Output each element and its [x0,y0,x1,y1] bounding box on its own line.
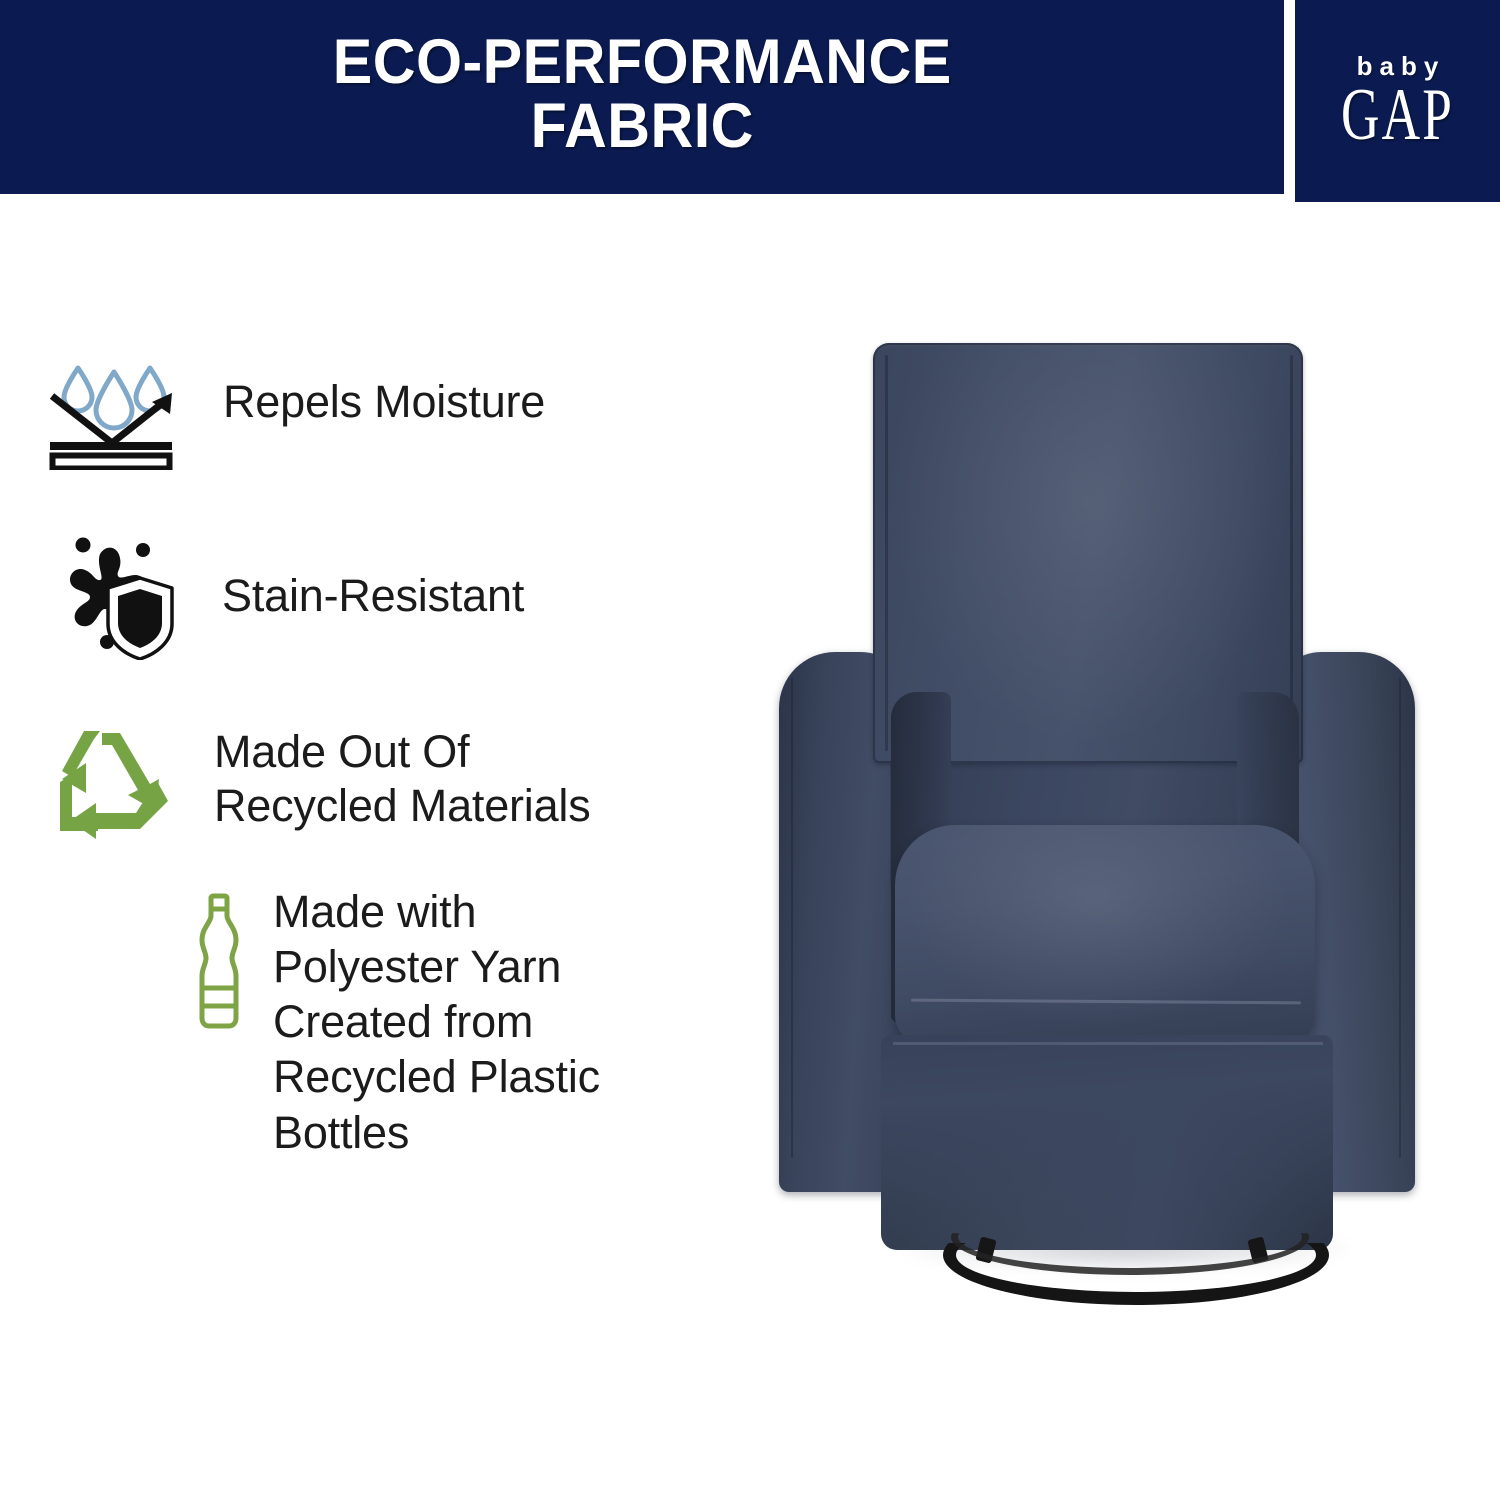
feature-item-repels-moisture: Repels Moisture [48,352,545,475]
feature-label: Stain-Resistant [222,569,524,623]
chair-seat-front-seam [893,1042,1323,1045]
chair-seat-front-panel [881,1035,1333,1250]
feature-label: Made Out Of Recycled Materials [214,725,591,834]
eco-performance-fabric-infographic: ECO-PERFORMANCE FABRIC baby GAP [0,0,1500,1500]
chair-back-seam-left [885,355,888,751]
page-title: ECO-PERFORMANCE FABRIC [332,30,951,165]
stain-shield-icon [48,532,176,665]
chair-back-seam-right [1290,355,1293,751]
brand-logo-gap-text: GAP [1341,81,1454,149]
feature-label: Repels Moisture [223,375,545,429]
feature-item-stain-resistant: Stain-Resistant [48,532,524,665]
water-droplets-repel-icon [48,352,180,475]
page-title-line-2: FABRIC [332,94,951,158]
header-title-panel: ECO-PERFORMANCE FABRIC [0,0,1284,194]
page-title-line-1: ECO-PERFORMANCE [332,27,951,97]
header-banner: ECO-PERFORMANCE FABRIC baby GAP [0,0,1500,202]
plastic-bottle-icon [196,892,242,1037]
chair-seat-cushion [895,825,1315,1045]
feature-label: Made with Polyester Yarn Created from Re… [273,884,600,1160]
product-image-swivel-glider-recliner [745,300,1500,1360]
brand-logo-panel: baby GAP [1295,0,1500,202]
feature-item-recycled-materials: Made Out Of Recycled Materials [58,727,591,850]
feature-list: Repels Moisture Stain-Resistant [0,202,745,1500]
recycle-arrows-icon [58,727,182,850]
feature-item-polyester-yarn: Made with Polyester Yarn Created from Re… [196,892,600,1160]
